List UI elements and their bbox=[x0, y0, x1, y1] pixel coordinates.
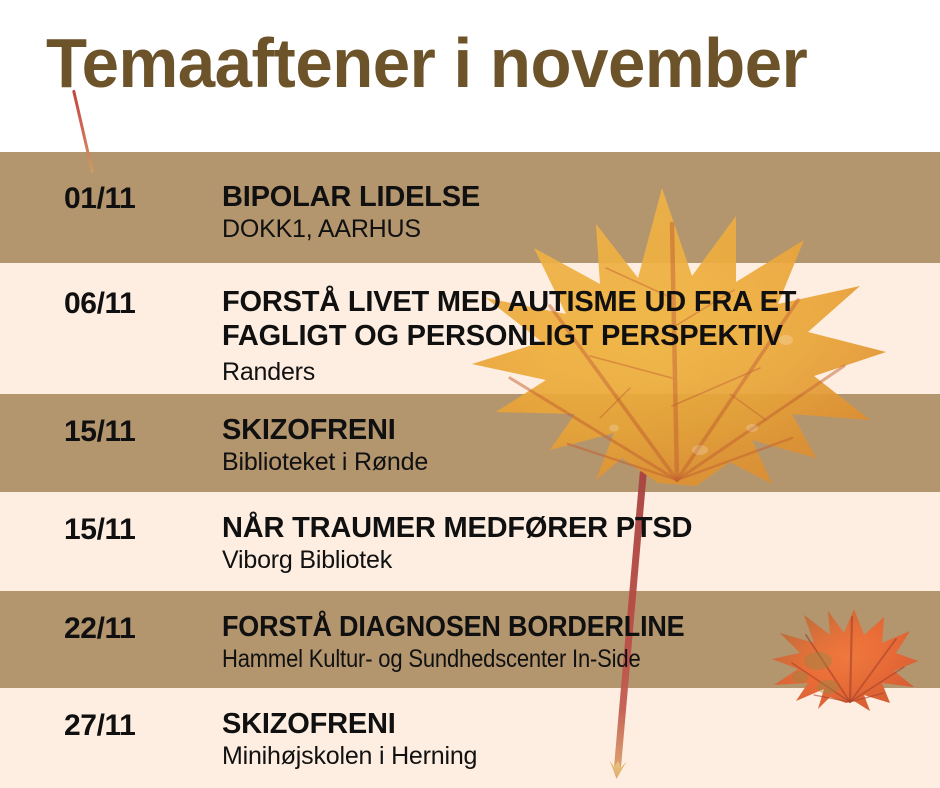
row-date: 15/11 bbox=[64, 415, 135, 449]
row-venue: Biblioteket i Rønde bbox=[222, 447, 428, 477]
row-venue: Randers bbox=[222, 357, 796, 387]
row-body: SKIZOFRENI Biblioteket i Rønde bbox=[222, 413, 428, 477]
row-title-line: NÅR TRAUMER MEDFØRER PTSD bbox=[222, 511, 692, 545]
row-venue: DOKK1, AARHUS bbox=[222, 214, 480, 244]
row-title-line: FAGLIGT OG PERSONLIGT PERSPEKTIV bbox=[222, 319, 796, 353]
row-date: 22/11 bbox=[64, 612, 135, 646]
poster-canvas: Temaaftener i november bbox=[0, 0, 940, 788]
row-title: NÅR TRAUMER MEDFØRER PTSD bbox=[222, 511, 692, 545]
row-title-line: FORSTÅ LIVET MED AUTISME UD FRA ET bbox=[222, 285, 796, 319]
row-venue: Viborg Bibliotek bbox=[222, 545, 692, 575]
row-title: FORSTÅ DIAGNOSEN BORDERLINE bbox=[222, 610, 684, 644]
schedule-row[interactable]: 15/11 NÅR TRAUMER MEDFØRER PTSD Viborg B… bbox=[0, 492, 940, 591]
row-date: 15/11 bbox=[64, 513, 135, 547]
schedule-row[interactable]: 27/11 SKIZOFRENI Minihøjskolen i Herning bbox=[0, 688, 940, 788]
row-title: SKIZOFRENI bbox=[222, 707, 477, 741]
row-venue: Minihøjskolen i Herning bbox=[222, 741, 477, 771]
row-date: 27/11 bbox=[64, 709, 135, 743]
row-title-line: FORSTÅ DIAGNOSEN BORDERLINE bbox=[222, 610, 684, 644]
row-body: FORSTÅ DIAGNOSEN BORDERLINE Hammel Kultu… bbox=[222, 610, 719, 674]
row-title-line: BIPOLAR LIDELSE bbox=[222, 180, 480, 214]
row-title-line: SKIZOFRENI bbox=[222, 707, 477, 741]
schedule-row[interactable]: 15/11 SKIZOFRENI Biblioteket i Rønde bbox=[0, 394, 940, 492]
row-title-line: SKIZOFRENI bbox=[222, 413, 428, 447]
row-body: SKIZOFRENI Minihøjskolen i Herning bbox=[222, 707, 477, 771]
row-venue: Hammel Kultur- og Sundhedscenter In-Side bbox=[222, 644, 660, 674]
schedule-row[interactable]: 01/11 BIPOLAR LIDELSE DOKK1, AARHUS bbox=[0, 152, 940, 263]
row-body: FORSTÅ LIVET MED AUTISME UD FRA ET FAGLI… bbox=[222, 285, 796, 387]
row-title: FORSTÅ LIVET MED AUTISME UD FRA ET FAGLI… bbox=[222, 285, 796, 353]
row-title: SKIZOFRENI bbox=[222, 413, 428, 447]
row-date: 01/11 bbox=[64, 182, 135, 216]
schedule-list: 01/11 BIPOLAR LIDELSE DOKK1, AARHUS 06/1… bbox=[0, 0, 940, 788]
schedule-row[interactable]: 22/11 FORSTÅ DIAGNOSEN BORDERLINE Hammel… bbox=[0, 591, 940, 688]
row-body: NÅR TRAUMER MEDFØRER PTSD Viborg Bibliot… bbox=[222, 511, 692, 575]
row-body: BIPOLAR LIDELSE DOKK1, AARHUS bbox=[222, 180, 480, 244]
schedule-row[interactable]: 06/11 FORSTÅ LIVET MED AUTISME UD FRA ET… bbox=[0, 263, 940, 394]
row-title: BIPOLAR LIDELSE bbox=[222, 180, 480, 214]
row-date: 06/11 bbox=[64, 287, 135, 321]
